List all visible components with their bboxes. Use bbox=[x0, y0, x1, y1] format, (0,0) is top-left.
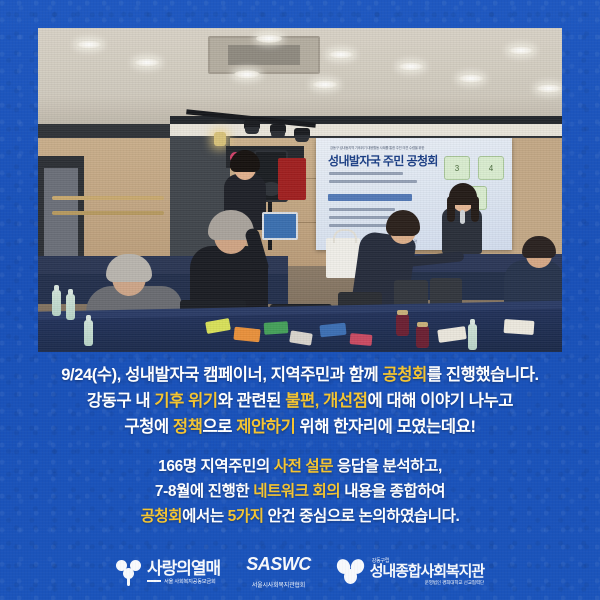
caption-text: 내용을 종합하여 bbox=[340, 483, 445, 500]
jam-jar bbox=[396, 314, 409, 336]
screen-card: 4 bbox=[478, 156, 504, 180]
caption-line-3: 구청에 정책으로 제안하기 위해 한자리에 모였는데요! bbox=[0, 414, 600, 440]
presenter-hair-left bbox=[447, 196, 455, 222]
snack-pack bbox=[233, 327, 260, 343]
caption-line-6: 공청회에서는 5가지 안건 중심으로 논의하였습니다. bbox=[0, 504, 600, 529]
caption-highlight: 기후 위기 bbox=[154, 392, 217, 410]
caption-line-5: 7-8월에 진행한 네트워크 회의 내용을 종합하여 bbox=[0, 479, 600, 504]
caption-highlight: 불편, 개선점 bbox=[285, 392, 367, 410]
caption-highlight: 제안하기 bbox=[236, 418, 295, 436]
caption-highlight: 공청회 bbox=[383, 366, 427, 384]
caption-highlight: 5가지 bbox=[228, 508, 264, 525]
caption-text: 9/24(수), 성내발자국 캠페이너, 지역주민과 함께 bbox=[61, 366, 382, 384]
logo-saswc: SASWC 서울시사회복지관협회 bbox=[246, 555, 311, 589]
downlight-icon bbox=[256, 34, 282, 43]
screen-body-line-1 bbox=[329, 208, 395, 211]
logo-seongnae: 강동구립 성내종합사회복지관 운영법인 경희대학교 선교협력단 bbox=[337, 558, 484, 586]
beverage-bottle bbox=[52, 290, 61, 316]
clover-icon bbox=[337, 559, 365, 585]
screen-small-header: 강동구 성내동지역 기후위기 대응활동 사례를 통한 주민 의견 수렴을 위한 bbox=[330, 145, 424, 150]
chair bbox=[430, 278, 462, 306]
caption-text: 와 관련된 bbox=[218, 392, 286, 410]
screen-info-line-1 bbox=[329, 172, 403, 175]
paper-sheet bbox=[504, 319, 535, 335]
caption-text: 에 대해 이야기 나누고 bbox=[368, 392, 514, 410]
caption-highlight: 공청회 bbox=[141, 508, 183, 525]
logo-sarang-sub: 서울 사회복지공동모금회 bbox=[164, 578, 216, 585]
caption-text: 166명 지역주민의 bbox=[158, 458, 274, 475]
logo-saswc-sub: 서울시사회복지관협회 bbox=[252, 580, 305, 589]
downlight-icon bbox=[312, 80, 338, 89]
screen-agenda-bar bbox=[328, 194, 412, 201]
spotlight-icon bbox=[244, 120, 260, 130]
caption-text: 구청에 bbox=[124, 418, 173, 436]
downlight-icon bbox=[234, 70, 260, 79]
screen-body-line-3 bbox=[329, 224, 387, 227]
beverage-bottle bbox=[66, 294, 75, 320]
downlight-icon bbox=[134, 58, 160, 67]
attendee-hair bbox=[230, 150, 260, 172]
caption-text: 안건 중심으로 논의하였습니다. bbox=[264, 508, 460, 525]
caption-text: 응답을 분석하고, bbox=[333, 458, 442, 475]
downlight-icon bbox=[328, 50, 354, 59]
logo-seongnae-main: 성내종합사회복지관 bbox=[370, 564, 484, 580]
logo-seongnae-sub: 운영법인 경희대학교 선교협력단 bbox=[370, 580, 484, 586]
caption-line-2: 강동구 내 기후 위기와 관련된 불편, 개선점에 대해 이야기 나누고 bbox=[0, 388, 600, 414]
ballet-barre-lower bbox=[52, 211, 164, 215]
downlight-icon bbox=[536, 84, 562, 93]
downlight-icon bbox=[458, 74, 484, 83]
wall-lamp-icon bbox=[214, 132, 226, 146]
jam-jar bbox=[416, 326, 429, 348]
caption-text: 7-8월에 진행한 bbox=[155, 483, 253, 500]
caption-highlight: 정책 bbox=[173, 418, 203, 436]
snack-pack bbox=[350, 333, 373, 346]
downlight-icon bbox=[508, 46, 534, 55]
microphone-icon bbox=[460, 210, 465, 224]
caption-text: 으로 bbox=[202, 418, 236, 436]
downlight-icon bbox=[398, 62, 424, 71]
logo-saswc-main: SASWC bbox=[246, 555, 311, 574]
snack-pack bbox=[264, 321, 289, 335]
standing-person-hair bbox=[386, 210, 420, 236]
caption-text: 강동구 내 bbox=[87, 392, 155, 410]
spotlight-icon bbox=[270, 124, 286, 134]
caption-text: 위해 한자리에 모였는데요! bbox=[295, 418, 475, 436]
tablet-device bbox=[262, 212, 298, 240]
downlight-icon bbox=[76, 40, 102, 49]
beverage-bottle bbox=[84, 320, 93, 346]
ballet-barre-upper bbox=[52, 196, 164, 200]
logo-sarang-main: 사랑의열매 bbox=[147, 560, 220, 578]
screen-card: 3 bbox=[444, 156, 470, 180]
social-card: 성내종합사 강동구 성내동지역 기후위기 대응활동 사례를 통한 주민 의견 수… bbox=[0, 0, 600, 600]
sponsor-logo-bar: 사랑의열매 서울 사회복지공동모금회 SASWC 서울시사회복지관협회 강동구립… bbox=[0, 548, 600, 596]
caption-highlight: 네트워크 회의 bbox=[253, 483, 340, 500]
caption-highlight: 사전 설문 bbox=[274, 458, 333, 475]
caption-text: 를 진행했습니다. bbox=[427, 366, 539, 384]
light-beam bbox=[170, 124, 562, 136]
logo-rule bbox=[147, 580, 161, 582]
event-photo: 성내종합사 강동구 성내동지역 기후위기 대응활동 사례를 통한 주민 의견 수… bbox=[38, 28, 562, 352]
caption-text: 에서는 bbox=[182, 508, 228, 525]
caption-line-4: 166명 지역주민의 사전 설문 응답을 분석하고, bbox=[0, 454, 600, 479]
fire-cabinet bbox=[278, 158, 306, 200]
screen-title: 성내발자국 주민 공청회 bbox=[328, 152, 438, 169]
caption-block: 9/24(수), 성내발자국 캠페이너, 지역주민과 함께 공청회를 진행했습니… bbox=[0, 362, 600, 529]
screen-info-line-2 bbox=[329, 180, 417, 183]
logo-sarang-fruit: 사랑의열매 서울 사회복지공동모금회 bbox=[116, 557, 220, 587]
spotlight-icon bbox=[294, 128, 310, 138]
fruit-of-love-icon bbox=[116, 557, 142, 587]
presenter-hair-right bbox=[471, 196, 479, 222]
beverage-bottle bbox=[468, 324, 477, 350]
caption-line-1: 9/24(수), 성내발자국 캠페이너, 지역주민과 함께 공청회를 진행했습니… bbox=[0, 362, 600, 388]
